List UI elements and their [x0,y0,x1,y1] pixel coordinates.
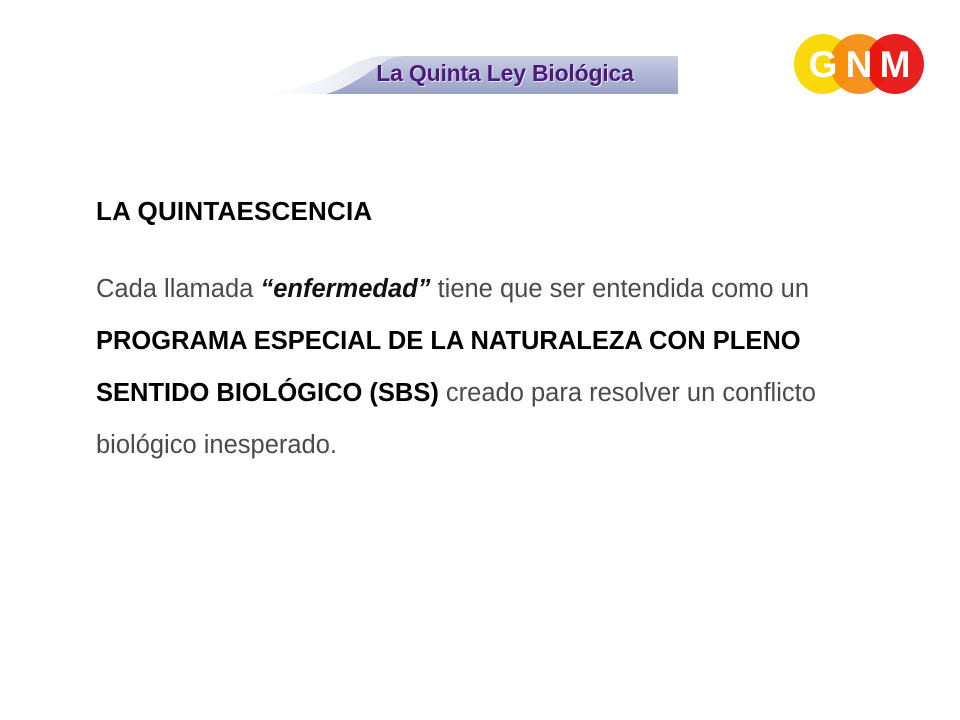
section-title: LA QUINTAESCENCIA [96,196,906,227]
logo-letter-n: N [846,44,873,85]
slide-header: La Quinta Ley Biológica G N M [0,0,960,120]
banner: La Quinta Ley Biológica [266,52,678,94]
slide-content: LA QUINTAESCENCIA Cada llamada “enfermed… [96,196,906,471]
banner-title: La Quinta Ley Biológica [266,52,678,94]
paragraph-part-2: tiene que ser entendida como un [430,275,809,303]
logo-letter-m: M [880,44,911,85]
paragraph-part-1: Cada llamada [96,275,260,303]
paragraph-emphasis: “enfermedad” [260,275,430,303]
gnm-logo: G N M [793,33,925,95]
body-paragraph: Cada llamada “enfermedad” tiene que ser … [96,263,886,471]
logo-letter-g: G [809,44,838,85]
